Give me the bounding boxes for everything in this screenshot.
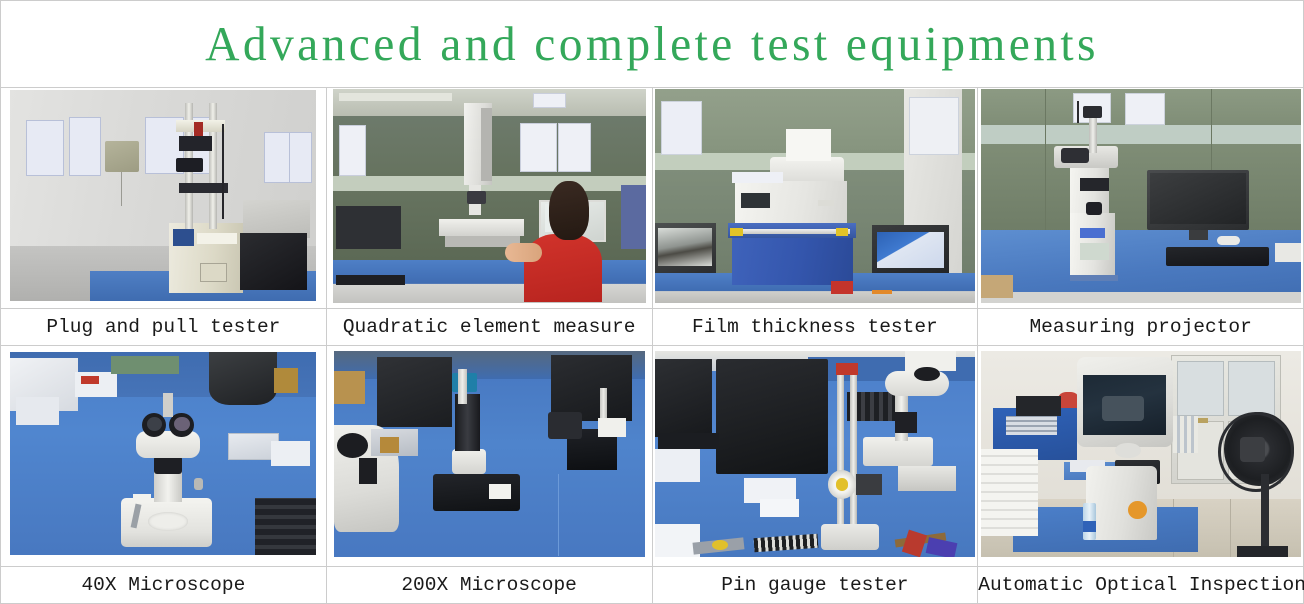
caption-cell-8: Automatic Optical Inspection xyxy=(978,567,1304,604)
caption-cell-2: Quadratic element measure xyxy=(326,309,652,346)
photo-row-1 xyxy=(1,88,1304,309)
equipment-caption-2: Quadratic element measure xyxy=(327,317,652,337)
equipment-caption-6: 200X Microscope xyxy=(327,575,652,595)
equipment-cell-4[interactable] xyxy=(978,88,1304,309)
caption-cell-5: 40X Microscope xyxy=(1,567,327,604)
film-thickness-tester-photo[interactable] xyxy=(655,89,975,303)
caption-cell-4: Measuring projector xyxy=(978,309,1304,346)
pin-gauge-tester-photo[interactable] xyxy=(655,351,975,557)
page-title-cell: Advanced and complete test equipments xyxy=(1,1,1304,88)
equipment-cell-8[interactable] xyxy=(978,346,1304,567)
page-title: Advanced and complete test equipments xyxy=(21,18,1284,70)
equipment-caption-4: Measuring projector xyxy=(978,317,1303,337)
equipment-cell-3[interactable] xyxy=(652,88,978,309)
equipment-cell-7[interactable] xyxy=(652,346,978,567)
caption-cell-6: 200X Microscope xyxy=(326,567,652,604)
plug-and-pull-tester-photo[interactable] xyxy=(10,90,316,301)
200x-microscope-photo[interactable] xyxy=(334,351,645,557)
equipment-caption-8: Automatic Optical Inspection xyxy=(978,575,1303,595)
equipment-cell-5[interactable] xyxy=(1,346,327,567)
equipment-caption-5: 40X Microscope xyxy=(1,575,326,595)
equipment-cell-2[interactable] xyxy=(326,88,652,309)
equipment-caption-7: Pin gauge tester xyxy=(653,575,978,595)
caption-cell-1: Plug and pull tester xyxy=(1,309,327,346)
equipment-cell-1[interactable] xyxy=(1,88,327,309)
equipment-grid: Advanced and complete test equipments xyxy=(0,0,1304,604)
equipment-caption-3: Film thickness tester xyxy=(653,317,978,337)
measuring-projector-photo[interactable] xyxy=(981,89,1301,303)
equipment-caption-1: Plug and pull tester xyxy=(1,317,326,337)
automatic-optical-inspection-photo[interactable] xyxy=(981,351,1301,557)
caption-cell-3: Film thickness tester xyxy=(652,309,978,346)
equipment-gallery-page: Advanced and complete test equipments xyxy=(0,0,1304,599)
40x-microscope-photo[interactable] xyxy=(10,352,316,555)
quadratic-element-measure-photo[interactable] xyxy=(333,89,646,303)
caption-cell-7: Pin gauge tester xyxy=(652,567,978,604)
caption-row-1: Plug and pull tester Quadratic element m… xyxy=(1,309,1304,346)
title-row: Advanced and complete test equipments xyxy=(1,1,1304,88)
caption-row-2: 40X Microscope 200X Microscope Pin gauge… xyxy=(1,567,1304,604)
photo-row-2 xyxy=(1,346,1304,567)
equipment-cell-6[interactable] xyxy=(326,346,652,567)
